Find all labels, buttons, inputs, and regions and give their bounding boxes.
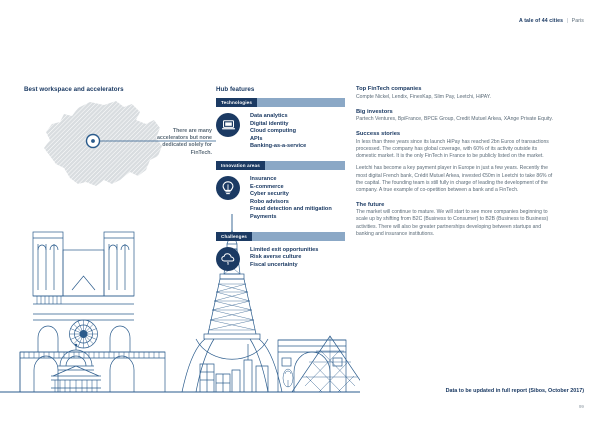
list-item: Limited exit opportunities [250, 247, 318, 255]
paragraph: Compte Nickel, Lendix, FinexKap, Slim Pa… [356, 94, 556, 101]
left-column-heading-wrap: Best workspace and accelerators [24, 86, 210, 93]
challenges-badge-bar: Challenges [216, 232, 345, 241]
accelerators-callout: There are many accelerators but none ded… [150, 128, 212, 157]
report-title: A tale of 44 cities [519, 18, 563, 24]
list-item: Fiscal uncertainty [250, 262, 318, 270]
rain-cloud-icon: $ [216, 247, 240, 271]
list-item: Banking-as-a-service [250, 143, 306, 151]
header-city: Paris [572, 18, 584, 24]
accelerators-callout-text: There are many accelerators but none ded… [157, 128, 212, 156]
the-future-body: The market will continue to mature. We w… [356, 209, 556, 237]
france-outline [44, 101, 162, 186]
louvre-pyramid [292, 336, 360, 392]
top-fintech-companies-body: Compte Nickel, Lendix, FinexKap, Slim Pa… [356, 94, 556, 101]
section-top-fintech-companies: Top FinTech companies Compte Nickel, Len… [356, 86, 556, 101]
hub-feature-block-technologies: Technologies Data analytics Digital iden… [216, 98, 346, 151]
pantheon [51, 344, 101, 392]
paragraph: In less than three years since its launc… [356, 139, 556, 160]
list-item: Payments [250, 214, 332, 222]
list-item: Insurance [250, 176, 332, 184]
footer-note: Data to be updated in full report (Sibos… [446, 388, 584, 394]
rain-cloud-icon-svg: $ [221, 253, 235, 265]
lightbulb-icon [216, 176, 240, 200]
list-item: APIs [250, 136, 306, 144]
technologies-badge-label: Technologies [216, 98, 257, 107]
section-success-stories: Success stories In less than three years… [356, 131, 556, 194]
list-item: Data analytics [250, 113, 306, 121]
right-column: Top FinTech companies Compte Nickel, Len… [356, 86, 556, 246]
success-stories-body: In less than three years since its launc… [356, 139, 556, 194]
technologies-list: Data analytics Digital identity Cloud co… [250, 112, 306, 151]
technologies-badge-bar: Technologies [216, 98, 345, 107]
big-investors-heading: Big investors [356, 109, 556, 115]
section-big-investors: Big investors Partech Ventures, BpiFranc… [356, 109, 556, 124]
header-separator: | [567, 18, 568, 24]
page-root: A tale of 44 cities | Paris Best workspa… [0, 0, 600, 424]
list-item: Digital identity [250, 121, 306, 129]
paris-map-marker [87, 135, 100, 148]
paragraph: Leetchi has become a key payment player … [356, 165, 556, 193]
list-item: Robo advisors [250, 199, 332, 207]
list-item: Cyber security [250, 191, 332, 199]
challenges-list: Limited exit opportunities Risk averse c… [250, 246, 318, 270]
success-stories-heading: Success stories [356, 131, 556, 137]
big-investors-body: Partech Ventures, BpiFrance, BPCE Group,… [356, 116, 556, 123]
notre-dame [20, 232, 165, 392]
lightbulb-icon-svg [222, 181, 234, 195]
modern-buildings [200, 364, 230, 392]
section-the-future: The future The market will continue to m… [356, 202, 556, 238]
innovation-areas-list: Insurance E-commerce Cyber security Robo… [250, 175, 332, 222]
the-future-heading: The future [356, 202, 556, 208]
laptop-icon [216, 113, 240, 137]
list-item: Cloud computing [250, 128, 306, 136]
list-item: E-commerce [250, 184, 332, 192]
page-number: 99 [579, 404, 584, 409]
list-item: Risk averse culture [250, 254, 318, 262]
laptop-icon-svg [222, 120, 235, 130]
hub-feature-block-innovation-areas: Innovation areas Insurance E-commerce Cy… [216, 161, 346, 222]
innovation-areas-badge-label: Innovation areas [216, 161, 265, 170]
list-item: Fraud detection and mitigation [250, 206, 332, 214]
innovation-areas-badge-bar: Innovation areas [216, 161, 345, 170]
top-fintech-companies-heading: Top FinTech companies [356, 86, 556, 92]
page-header: A tale of 44 cities | Paris [519, 18, 584, 24]
hub-features-column: Hub features Technologies Data analytics… [216, 86, 346, 281]
paragraph: Partech Ventures, BpiFrance, BPCE Group,… [356, 116, 556, 123]
hub-feature-block-challenges: Challenges $ Limited exit opportunities … [216, 232, 346, 271]
best-workspace-heading: Best workspace and accelerators [24, 86, 210, 93]
paragraph: The market will continue to mature. We w… [356, 209, 556, 237]
hub-features-heading: Hub features [216, 86, 346, 93]
challenges-badge-label: Challenges [216, 232, 252, 241]
